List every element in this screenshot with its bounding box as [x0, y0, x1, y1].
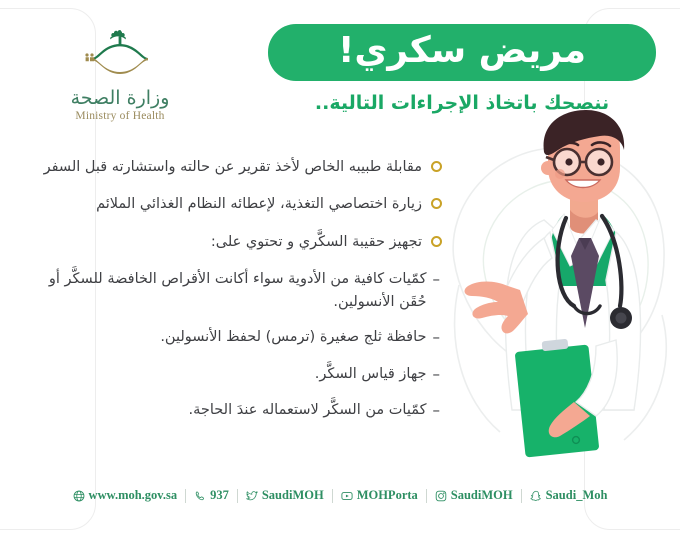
footer-label-instagram: SaudiMOH: [451, 488, 513, 503]
footer-label-twitter: SaudiMOH: [262, 488, 324, 503]
sub-list-item-text: كمّيات كافية من الأدوية سواء أكانت الأقر…: [32, 268, 427, 313]
footer-label-youtube: MOHPorta: [357, 488, 418, 503]
list-item-text: زيارة اختصاصي التغذية، لإعطائه النظام ال…: [32, 193, 422, 215]
logo-name-arabic: وزارة الصحة: [52, 88, 188, 109]
sub-list-item: – حافظة ثلج صغيرة (ترمس) لحفظ الأنسولين.: [32, 326, 442, 349]
footer-item-youtube[interactable]: MOHPorta: [333, 488, 426, 503]
stethoscope-chestpiece-inner: [616, 313, 627, 324]
sub-list-item-text: جهاز قياس السكَّر.: [32, 363, 427, 385]
youtube-icon: [341, 490, 353, 502]
eye-right: [597, 158, 604, 165]
logo-name-english: Ministry of Health: [52, 110, 188, 122]
snapchat-icon: [530, 490, 542, 502]
sub-list-item: – جهاز قياس السكَّر.: [32, 363, 442, 386]
list-item-text: مقابلة طبيبه الخاص لأخذ تقرير عن حالته و…: [32, 156, 422, 178]
sub-list-item-text: كمّيات من السكَّر لاستعماله عندَ الحاجة.: [32, 399, 427, 421]
footer-label-phone: 937: [210, 488, 229, 503]
list-item: مقابلة طبيبه الخاص لأخذ تقرير عن حالته و…: [32, 156, 442, 178]
phone-icon: [194, 490, 206, 502]
footer-label-website: www.moh.gov.sa: [89, 488, 178, 503]
list-item: تجهيز حقيبة السكَّري و تحتوي على:: [32, 231, 442, 253]
list-item-text: تجهيز حقيبة السكَّري و تحتوي على:: [32, 231, 422, 253]
footer-item-snapchat[interactable]: Saudi_Moh: [522, 488, 616, 503]
sub-list-item: – كمّيات من السكَّر لاستعماله عندَ الحاج…: [32, 399, 442, 422]
title-banner: مريض سكري!: [268, 24, 656, 81]
infographic-poster: وزارة الصحة Ministry of Health مريض سكري…: [0, 0, 680, 533]
list-item: زيارة اختصاصي التغذية، لإعطائه النظام ال…: [32, 193, 442, 215]
sub-list-item-text: حافظة ثلج صغيرة (ترمس) لحفظ الأنسولين.: [32, 326, 427, 348]
footer-item-twitter[interactable]: SaudiMOH: [238, 488, 332, 503]
footer-label-snapchat: Saudi_Moh: [546, 488, 608, 503]
footer-item-instagram[interactable]: SaudiMOH: [427, 488, 521, 503]
eye-left: [565, 158, 572, 165]
moh-palm-swords-logo-icon: [52, 24, 188, 86]
advice-list: مقابلة طبيبه الخاص لأخذ تقرير عن حالته و…: [32, 156, 442, 435]
twitter-icon: [246, 490, 258, 502]
footer-item-website[interactable]: www.moh.gov.sa: [65, 488, 186, 503]
globe-icon: [73, 490, 85, 502]
doctor-illustration: [424, 110, 680, 460]
instagram-icon: [435, 490, 447, 502]
footer-contact-bar: www.moh.gov.sa 937 SaudiMOH MOHPorta: [0, 488, 680, 503]
kit-contents-list: – كمّيات كافية من الأدوية سواء أكانت الأ…: [32, 268, 442, 422]
footer-item-phone[interactable]: 937: [186, 488, 237, 503]
moh-logo: وزارة الصحة Ministry of Health: [52, 24, 188, 122]
sub-list-item: – كمّيات كافية من الأدوية سواء أكانت الأ…: [32, 268, 442, 313]
page-title: مريض سكري!: [338, 33, 586, 73]
cheek-blush: [555, 169, 565, 179]
